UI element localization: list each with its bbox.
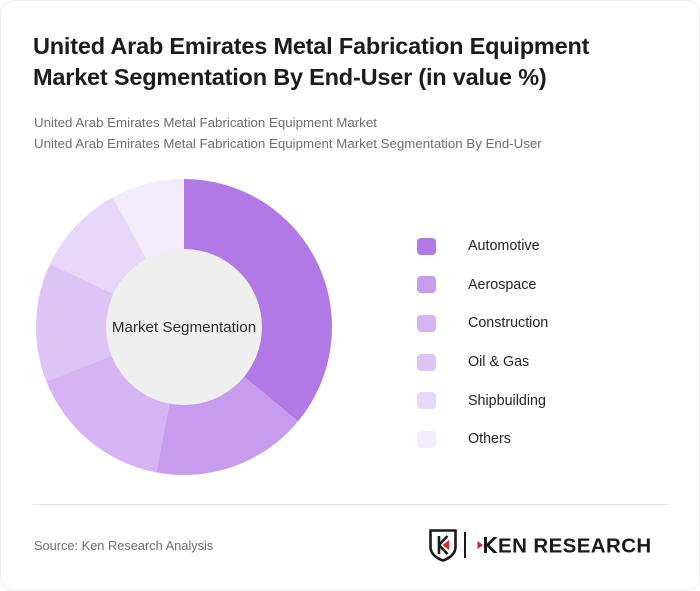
legend-item[interactable]: Automotive <box>417 227 548 266</box>
donut-svg <box>34 177 334 477</box>
legend-item[interactable]: Others <box>417 420 548 459</box>
subtitle-block: United Arab Emirates Metal Fabrication E… <box>34 113 664 154</box>
legend-swatch <box>417 238 436 255</box>
legend-label: Aerospace <box>468 277 536 293</box>
legend-swatch <box>417 392 436 409</box>
chart-card: United Arab Emirates Metal Fabrication E… <box>0 0 700 591</box>
legend-label: Others <box>468 431 511 447</box>
legend-label: Automotive <box>468 238 540 254</box>
legend-label: Oil & Gas <box>468 354 529 370</box>
legend-item[interactable]: Construction <box>417 304 548 343</box>
subtitle-line-1: United Arab Emirates Metal Fabrication E… <box>34 113 664 134</box>
source-text: Source: Ken Research Analysis <box>34 538 213 553</box>
ken-research-logo: EN RESEARCH <box>428 525 669 565</box>
svg-text:EN RESEARCH: EN RESEARCH <box>498 535 652 558</box>
legend-item[interactable]: Aerospace <box>417 266 548 305</box>
legend-swatch <box>417 354 436 371</box>
logo-wordmark: EN RESEARCH <box>473 532 669 558</box>
legend-item[interactable]: Oil & Gas <box>417 343 548 382</box>
legend-swatch <box>417 431 436 448</box>
legend-label: Construction <box>468 315 548 331</box>
legend-swatch <box>417 276 436 293</box>
donut-hole <box>106 249 262 405</box>
page-title: United Arab Emirates Metal Fabrication E… <box>33 31 653 94</box>
legend-swatch <box>417 315 436 332</box>
donut-chart: Market Segmentation <box>34 177 334 477</box>
chart-legend: AutomotiveAerospaceConstructionOil & Gas… <box>417 227 548 459</box>
logo-divider <box>464 532 466 558</box>
subtitle-line-2: United Arab Emirates Metal Fabrication E… <box>34 134 664 155</box>
legend-item[interactable]: Shipbuilding <box>417 381 548 420</box>
legend-label: Shipbuilding <box>468 393 546 409</box>
footer-divider <box>33 504 669 505</box>
shield-logo-icon <box>428 528 458 562</box>
